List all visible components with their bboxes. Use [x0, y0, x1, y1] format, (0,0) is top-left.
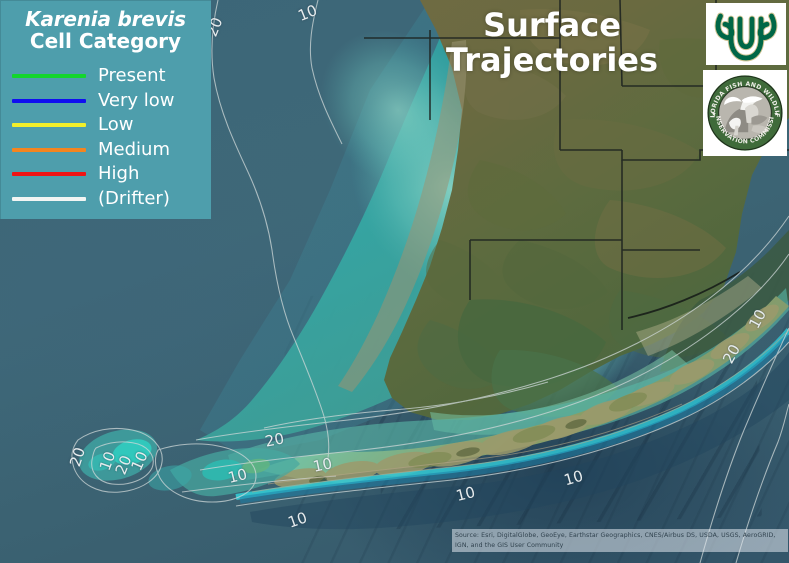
legend-swatch — [12, 99, 86, 103]
legend-item-label: (Drifter) — [98, 190, 170, 208]
legend-title-species: Karenia brevis — [0, 9, 211, 30]
legend-item-label: Very low — [98, 92, 175, 110]
legend-item: (Drifter) — [0, 187, 211, 212]
legend-panel: Karenia brevis Cell Category PresentVery… — [0, 0, 211, 219]
legend-item: Low — [0, 113, 211, 138]
line-swatch-orange — [0, 148, 98, 152]
line-swatch-red — [0, 172, 98, 176]
legend-swatch — [12, 148, 86, 152]
map-canvas: 2010102020102010201010101010 Karenia bre… — [0, 0, 789, 563]
fwc-seal-icon: FLORIDA FISH AND WILDLIFE CONSERVATION C… — [705, 72, 785, 154]
basemap-attribution: Source: Esri, DigitalGlobe, GeoEye, Eart… — [452, 529, 788, 552]
usf-bull-icon — [708, 4, 784, 64]
line-swatch-green — [0, 74, 98, 78]
legend-item-label: Low — [98, 116, 133, 134]
line-swatch-yellow — [0, 123, 98, 127]
map-title-line2: Trajectories — [418, 43, 686, 78]
legend-title-category: Cell Category — [0, 31, 211, 52]
legend-item-list: PresentVery lowLowMediumHigh(Drifter) — [0, 64, 211, 211]
legend-item-label: High — [98, 165, 139, 183]
svg-text:★: ★ — [711, 110, 716, 117]
legend-item: Very low — [0, 89, 211, 114]
usf-bull-logo — [706, 3, 786, 65]
legend-item: High — [0, 162, 211, 187]
legend-item-label: Medium — [98, 141, 170, 159]
legend-swatch — [12, 172, 86, 176]
line-swatch-blue — [0, 99, 98, 103]
legend-item: Present — [0, 64, 211, 89]
fwc-seal-logo: FLORIDA FISH AND WILDLIFE CONSERVATION C… — [703, 70, 787, 156]
legend-swatch — [12, 74, 86, 78]
legend-item-label: Present — [98, 67, 166, 85]
legend-item: Medium — [0, 138, 211, 163]
legend-swatch — [12, 123, 86, 127]
svg-text:★: ★ — [774, 110, 779, 117]
line-swatch-white — [0, 197, 98, 201]
map-title-line1: Surface — [418, 8, 686, 43]
map-title: Surface Trajectories — [418, 8, 686, 77]
legend-swatch — [12, 197, 86, 201]
